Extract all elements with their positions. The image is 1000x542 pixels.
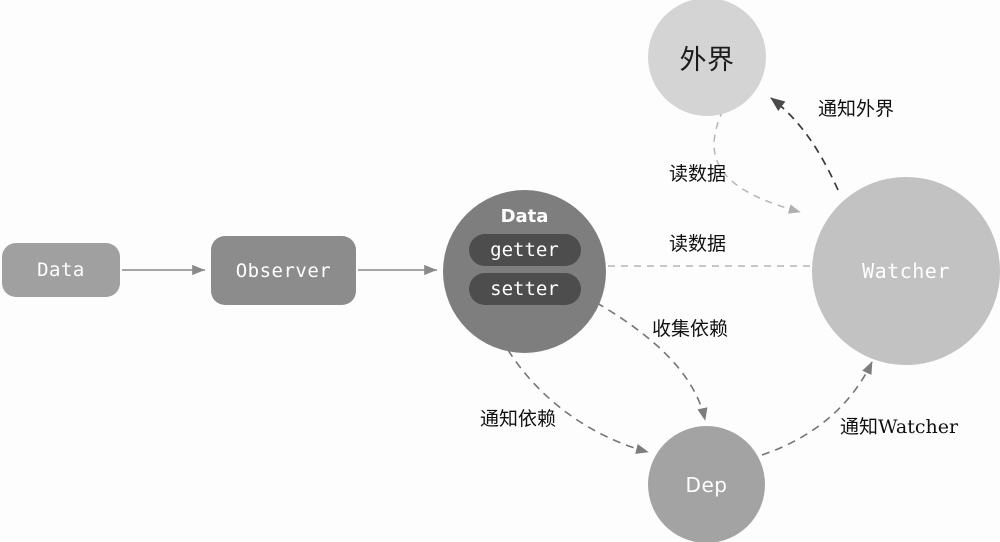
node-watcher[interactable]: Watcher xyxy=(812,177,1000,365)
node-dep[interactable]: Dep xyxy=(648,426,765,542)
edge-label-notify-outside: 通知外界 xyxy=(818,94,894,121)
edge-dep-to-watcher xyxy=(762,362,872,455)
node-data-circle-title: Data xyxy=(501,206,549,227)
node-observer-box[interactable]: Observer xyxy=(211,236,356,305)
edge-setter-to-dep xyxy=(508,350,648,452)
member-getter-label: getter xyxy=(490,239,559,261)
member-setter-pill[interactable]: setter xyxy=(469,273,581,305)
node-observer-box-label: Observer xyxy=(236,260,332,282)
node-data-circle[interactable]: Data getter setter xyxy=(443,190,606,353)
member-getter-pill[interactable]: getter xyxy=(469,234,581,266)
diagram-canvas: Data Observer Data getter setter 外界 Watc… xyxy=(0,0,1000,542)
edge-label-collect-dependency: 收集依赖 xyxy=(652,314,728,341)
node-waijie-label: 外界 xyxy=(680,38,735,77)
node-data-box[interactable]: Data xyxy=(2,243,120,297)
node-dep-label: Dep xyxy=(686,473,728,497)
edge-label-notify-watcher: 通知Watcher xyxy=(840,412,958,439)
member-setter-label: setter xyxy=(490,278,559,300)
edge-label-read-data-top: 读数据 xyxy=(669,159,726,186)
edge-label-read-data-mid: 读数据 xyxy=(669,229,726,256)
node-watcher-label: Watcher xyxy=(862,259,950,283)
node-waijie[interactable]: 外界 xyxy=(648,0,766,116)
edge-waijie-to-watcher xyxy=(714,110,800,212)
edge-label-notify-dependency: 通知依赖 xyxy=(480,404,556,431)
node-data-box-label: Data xyxy=(37,259,85,281)
